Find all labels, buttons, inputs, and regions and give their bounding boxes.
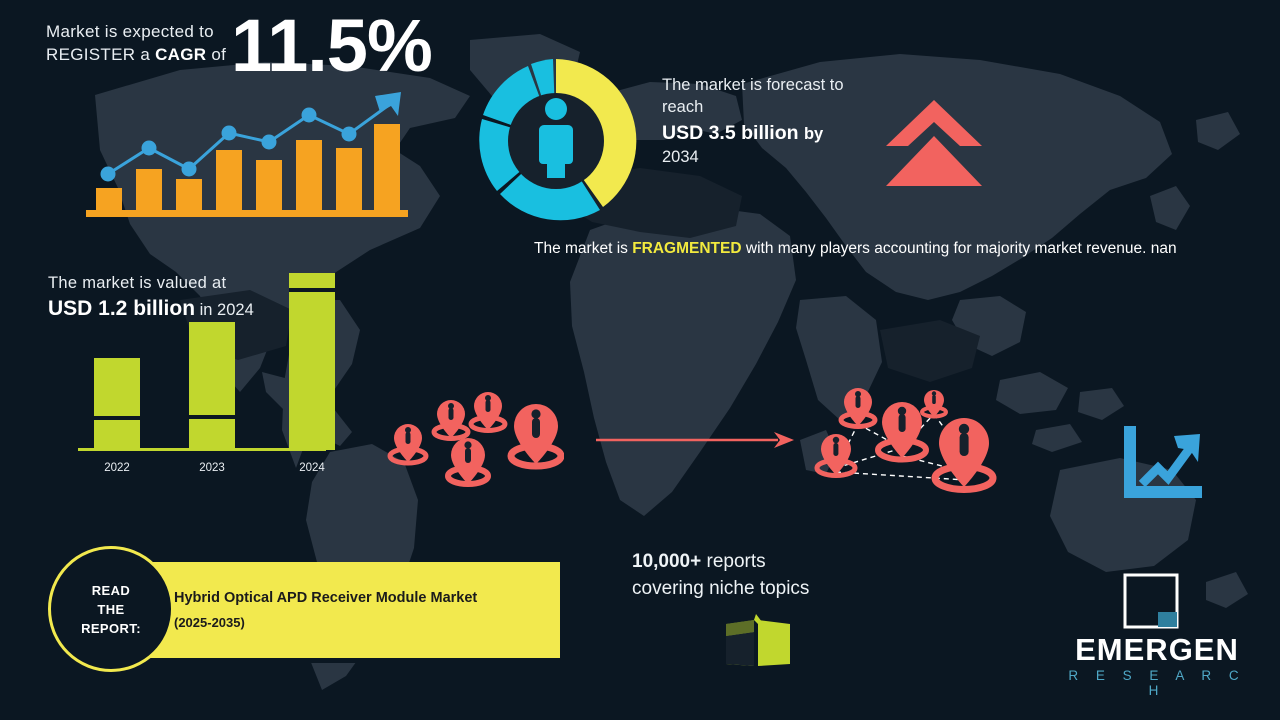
open-book-icon (722, 612, 794, 670)
report-banner-shadow (152, 658, 560, 663)
growth-bar-chart-with-trendline (68, 84, 418, 224)
green-bar-divider (94, 416, 140, 420)
market-share-donut (470, 55, 642, 227)
reports-count-value: 10,000+ (632, 551, 701, 572)
cagr-lead-line2-post: of (206, 45, 226, 64)
report-circle-line2: THE (97, 602, 124, 617)
cagr-lead-text: Market is expected to REGISTER a CAGR of (46, 20, 246, 66)
double-up-arrow-icon (884, 98, 984, 188)
report-title: Hybrid Optical APD Receiver Module Marke… (174, 590, 477, 606)
read-the-report-button[interactable]: READ THE REPORT: (48, 546, 174, 672)
connected-location-pin-network-icon (806, 386, 1006, 506)
green-bar-label-2024: 2024 (282, 462, 342, 474)
forecast-value: USD 3.5 billion (662, 122, 799, 144)
report-circle-line1: READ (92, 583, 130, 598)
green-bar-2024 (289, 273, 335, 450)
cagr-value: 11.5% (231, 6, 432, 86)
infographic-canvas: Market is expected to REGISTER a CAGR of… (0, 0, 1280, 720)
forecast-by: by (804, 125, 823, 143)
green-bar-label-2022: 2022 (87, 462, 147, 474)
right-arrow-icon (596, 428, 796, 452)
fragmented-post: with many players accounting for majorit… (742, 240, 1177, 257)
fragmented-pre: The market is (534, 240, 632, 257)
report-subtitle: (2025-2035) (174, 615, 245, 630)
forecast-value-row: USD 3.5 billion by (662, 120, 912, 147)
report-banner[interactable]: Hybrid Optical APD Receiver Module Marke… (148, 562, 560, 658)
green-bar-divider (189, 415, 235, 419)
square-chart-logo-icon (1122, 572, 1180, 630)
reports-count-line2: covering niche topics (632, 575, 892, 602)
location-pin-cluster-icon (384, 388, 564, 498)
read-the-report-label: READ THE REPORT: (81, 581, 141, 638)
green-bar-label-2023: 2023 (182, 462, 242, 474)
cagr-lead-line1: Market is expected to (46, 22, 214, 41)
cagr-block: Market is expected to REGISTER a CAGR of… (46, 20, 466, 66)
green-bar-2022 (94, 358, 140, 450)
cagr-lead-bold: CAGR (155, 45, 206, 64)
logo-subtitle: R E S E A R C H (1064, 668, 1250, 698)
green-bar-divider (289, 288, 335, 292)
logo-name: EMERGEN (1064, 632, 1250, 668)
forecast-year: 2034 (662, 147, 912, 167)
reports-count-block: 10,000+ reports covering niche topics (632, 548, 892, 602)
fragmented-statement: The market is FRAGMENTED with many playe… (534, 237, 1204, 260)
growth-chart-baseline (86, 210, 408, 217)
fragmented-highlight: FRAGMENTED (632, 240, 741, 257)
market-value-bar-chart: 2022 2023 2024 (78, 296, 338, 476)
reports-count-line1: 10,000+ reports (632, 548, 892, 575)
green-bar-2023 (189, 322, 235, 450)
cagr-lead-line2-pre: REGISTER a (46, 45, 155, 64)
report-circle-line3: REPORT: (81, 621, 141, 636)
forecast-line2: reach (662, 96, 912, 118)
reports-count-word: reports (701, 551, 765, 572)
forecast-line1: The market is forecast to (662, 74, 912, 96)
forecast-block: The market is forecast to reach USD 3.5 … (662, 74, 912, 167)
growth-chart-icon (1118, 422, 1208, 508)
